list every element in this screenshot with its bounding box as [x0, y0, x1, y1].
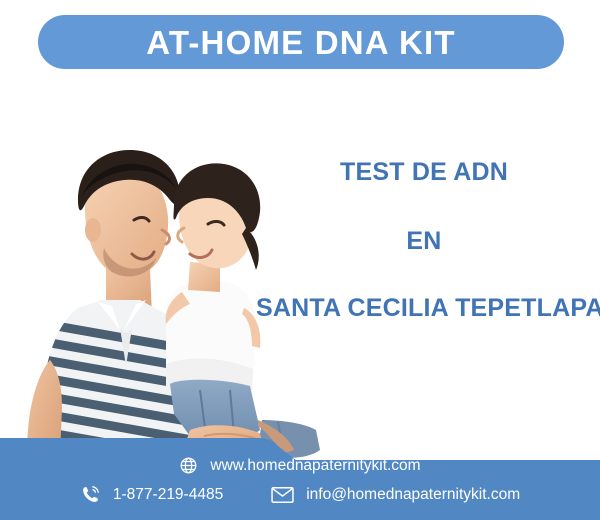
footer-email-text: info@homednapaternitykit.com: [306, 487, 520, 503]
footer-row-contact: 1-877-219-4485 info@homednapaternitykit.…: [0, 484, 600, 505]
footer-phone-group[interactable]: 1-877-219-4485: [80, 484, 223, 505]
footer-row-website: www.homednapaternitykit.com: [0, 456, 600, 475]
header-badge-title: AT-HOME DNA KIT: [146, 26, 455, 59]
footer-content: www.homednapaternitykit.com 1-877-219-44…: [0, 452, 600, 520]
footer-website-text: www.homednapaternitykit.com: [210, 458, 420, 474]
header-badge: AT-HOME DNA KIT: [38, 15, 564, 69]
footer-website-group[interactable]: www.homednapaternitykit.com: [179, 456, 420, 475]
dna-kit-banner: AT-HOME DNA KIT: [0, 0, 600, 520]
phone-icon: [80, 484, 101, 505]
footer-phone-text: 1-877-219-4485: [113, 487, 223, 503]
headline-line-3: SANTA CECILIA TEPETLAPAN: [256, 296, 600, 321]
headline-line-2: EN: [248, 229, 600, 254]
footer-email-group[interactable]: info@homednapaternitykit.com: [271, 486, 520, 504]
envelope-icon: [271, 486, 294, 504]
headline-block: TEST DE ADN EN SANTA CECILIA TEPETLAPAN: [248, 160, 600, 321]
globe-icon: [179, 456, 198, 475]
headline-line-1: TEST DE ADN: [248, 160, 600, 185]
